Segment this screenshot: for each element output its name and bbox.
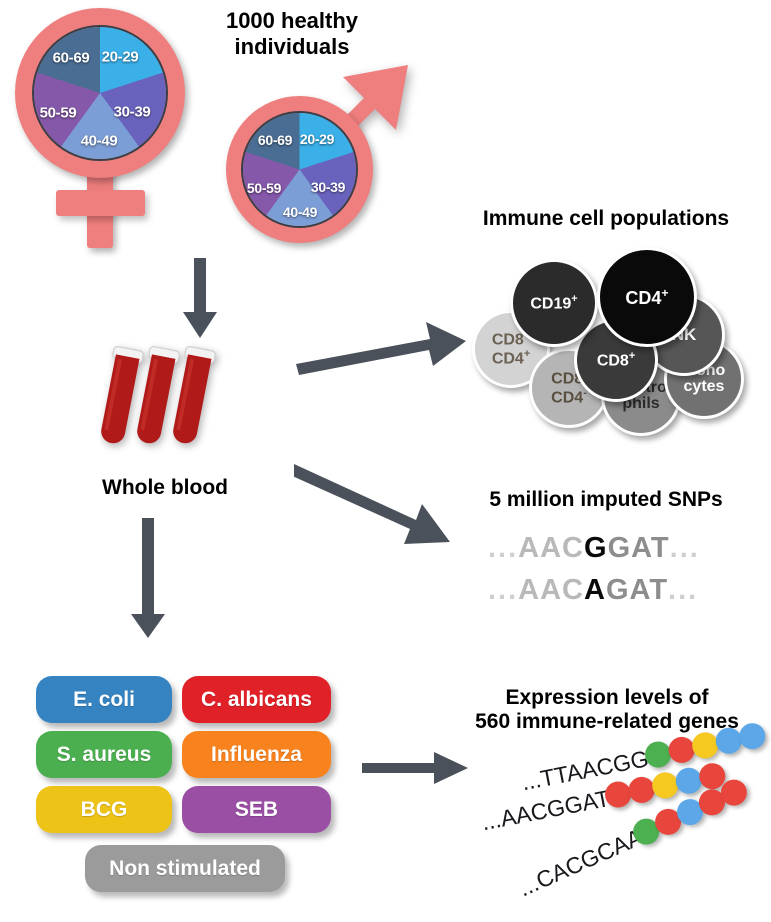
genes-heading: Expression levels of 560 immune-related … <box>448 686 766 735</box>
stimulus-pill-s-aureus[interactable]: S. aureus <box>36 731 172 778</box>
male-age-label-60-69: 60-69 <box>258 132 292 148</box>
snp-row2-variant: A <box>584 574 606 606</box>
arrow-stimuli-to-genes <box>362 752 470 786</box>
stimulus-pill-bcg[interactable]: BCG <box>36 786 172 833</box>
gene-bead <box>651 805 685 839</box>
female-age-label-30-39: 30-39 <box>114 104 151 121</box>
gene-strand-sequence: ...TTAACGG <box>519 745 650 796</box>
stimulus-label: SEB <box>235 798 278 822</box>
stimulus-pill-c-albicans[interactable]: C. albicans <box>182 676 331 723</box>
snp-row1-prefix-dots: ... <box>488 532 518 564</box>
snp-sequence-row-1: ...AACGGAT... <box>488 532 700 565</box>
gene-strand-2: ...AACGGAT <box>479 759 738 838</box>
snp-row2-prefix-dots: ... <box>488 574 518 606</box>
male-age-label-50-59: 50-59 <box>247 180 281 196</box>
gene-bead <box>674 766 704 796</box>
snp-row2-right: GAT <box>606 574 668 606</box>
blood-tubes-illustration <box>100 340 230 470</box>
stimulus-pill-seb[interactable]: SEB <box>182 786 331 833</box>
male-age-label-20-29: 20-29 <box>300 131 334 147</box>
snp-row1-right: GAT <box>608 532 670 564</box>
snp-row1-variant: G <box>584 532 608 564</box>
arrow-blood-to-snps <box>294 458 454 548</box>
immune-cell-label: CD4+ <box>625 287 668 307</box>
immune-cell-label: CD19+ <box>530 294 577 313</box>
stimulus-label: Influenza <box>211 743 302 767</box>
figure-canvas: 20-29 30-39 40-49 50-59 60-69 1000 healt… <box>0 0 771 922</box>
female-age-label-20-29: 20-29 <box>102 49 139 66</box>
arrow-blood-to-stimuli <box>127 518 171 640</box>
gene-bead <box>650 770 680 800</box>
arrow-cohort-to-blood <box>178 258 222 340</box>
male-gender-symbol: 20-29 30-39 40-49 50-59 60-69 <box>212 60 422 250</box>
stimulus-label: E. coli <box>73 688 135 712</box>
female-age-label-50-59: 50-59 <box>40 105 77 122</box>
stimulus-pill-e-coli[interactable]: E. coli <box>36 676 172 723</box>
gene-bead <box>603 779 633 809</box>
snps-heading: 5 million imputed SNPs <box>448 488 764 512</box>
immune-cell-label: CD8+ <box>597 351 635 370</box>
snp-row1-suffix-dots: ... <box>670 532 700 564</box>
snp-sequence-row-2: ...AACAGAT... <box>488 574 698 607</box>
stimulus-label: S. aureus <box>57 743 152 767</box>
stimulus-label: BCG <box>81 798 128 822</box>
gene-bead <box>717 775 751 809</box>
snp-row2-suffix-dots: ... <box>668 574 698 606</box>
gene-strand-3: ...CACGCAA <box>514 771 762 903</box>
female-age-label-60-69: 60-69 <box>53 50 90 67</box>
female-gender-symbol: 20-29 30-39 40-49 50-59 60-69 <box>10 8 200 248</box>
page-title-cohort: 1000 healthy individuals <box>182 8 402 59</box>
immune-cell-cd19+[interactable]: CD19+ <box>510 259 598 347</box>
stimulus-label: Non stimulated <box>109 857 261 881</box>
male-age-label-40-49: 40-49 <box>283 204 317 220</box>
stimulus-label: C. albicans <box>201 688 312 712</box>
arrow-blood-to-immune <box>296 322 468 376</box>
snp-row2-left: AAC <box>518 574 584 606</box>
stimulus-pill-influenza[interactable]: Influenza <box>182 731 331 778</box>
snp-row1-left: AAC <box>518 532 584 564</box>
male-age-label-30-39: 30-39 <box>311 179 345 195</box>
gene-bead <box>643 739 673 769</box>
stimulus-pill-non-stimulated[interactable]: Non stimulated <box>85 845 285 892</box>
gene-bead <box>695 785 729 819</box>
female-age-label-40-49: 40-49 <box>81 133 118 150</box>
gene-bead <box>626 775 656 805</box>
female-symbol-crossbar <box>56 190 145 216</box>
immune-cell-cd4+[interactable]: CD4+ <box>597 247 697 347</box>
blood-label: Whole blood <box>60 476 270 500</box>
gene-bead <box>629 814 663 848</box>
immune-heading: Immune cell populations <box>448 207 764 231</box>
gene-strand-sequence: ...CACGCAA <box>515 824 647 903</box>
gene-bead <box>697 761 727 791</box>
gene-strand-sequence: ...AACGGAT <box>479 785 612 836</box>
gene-bead <box>673 795 707 829</box>
gene-bead <box>666 735 696 765</box>
